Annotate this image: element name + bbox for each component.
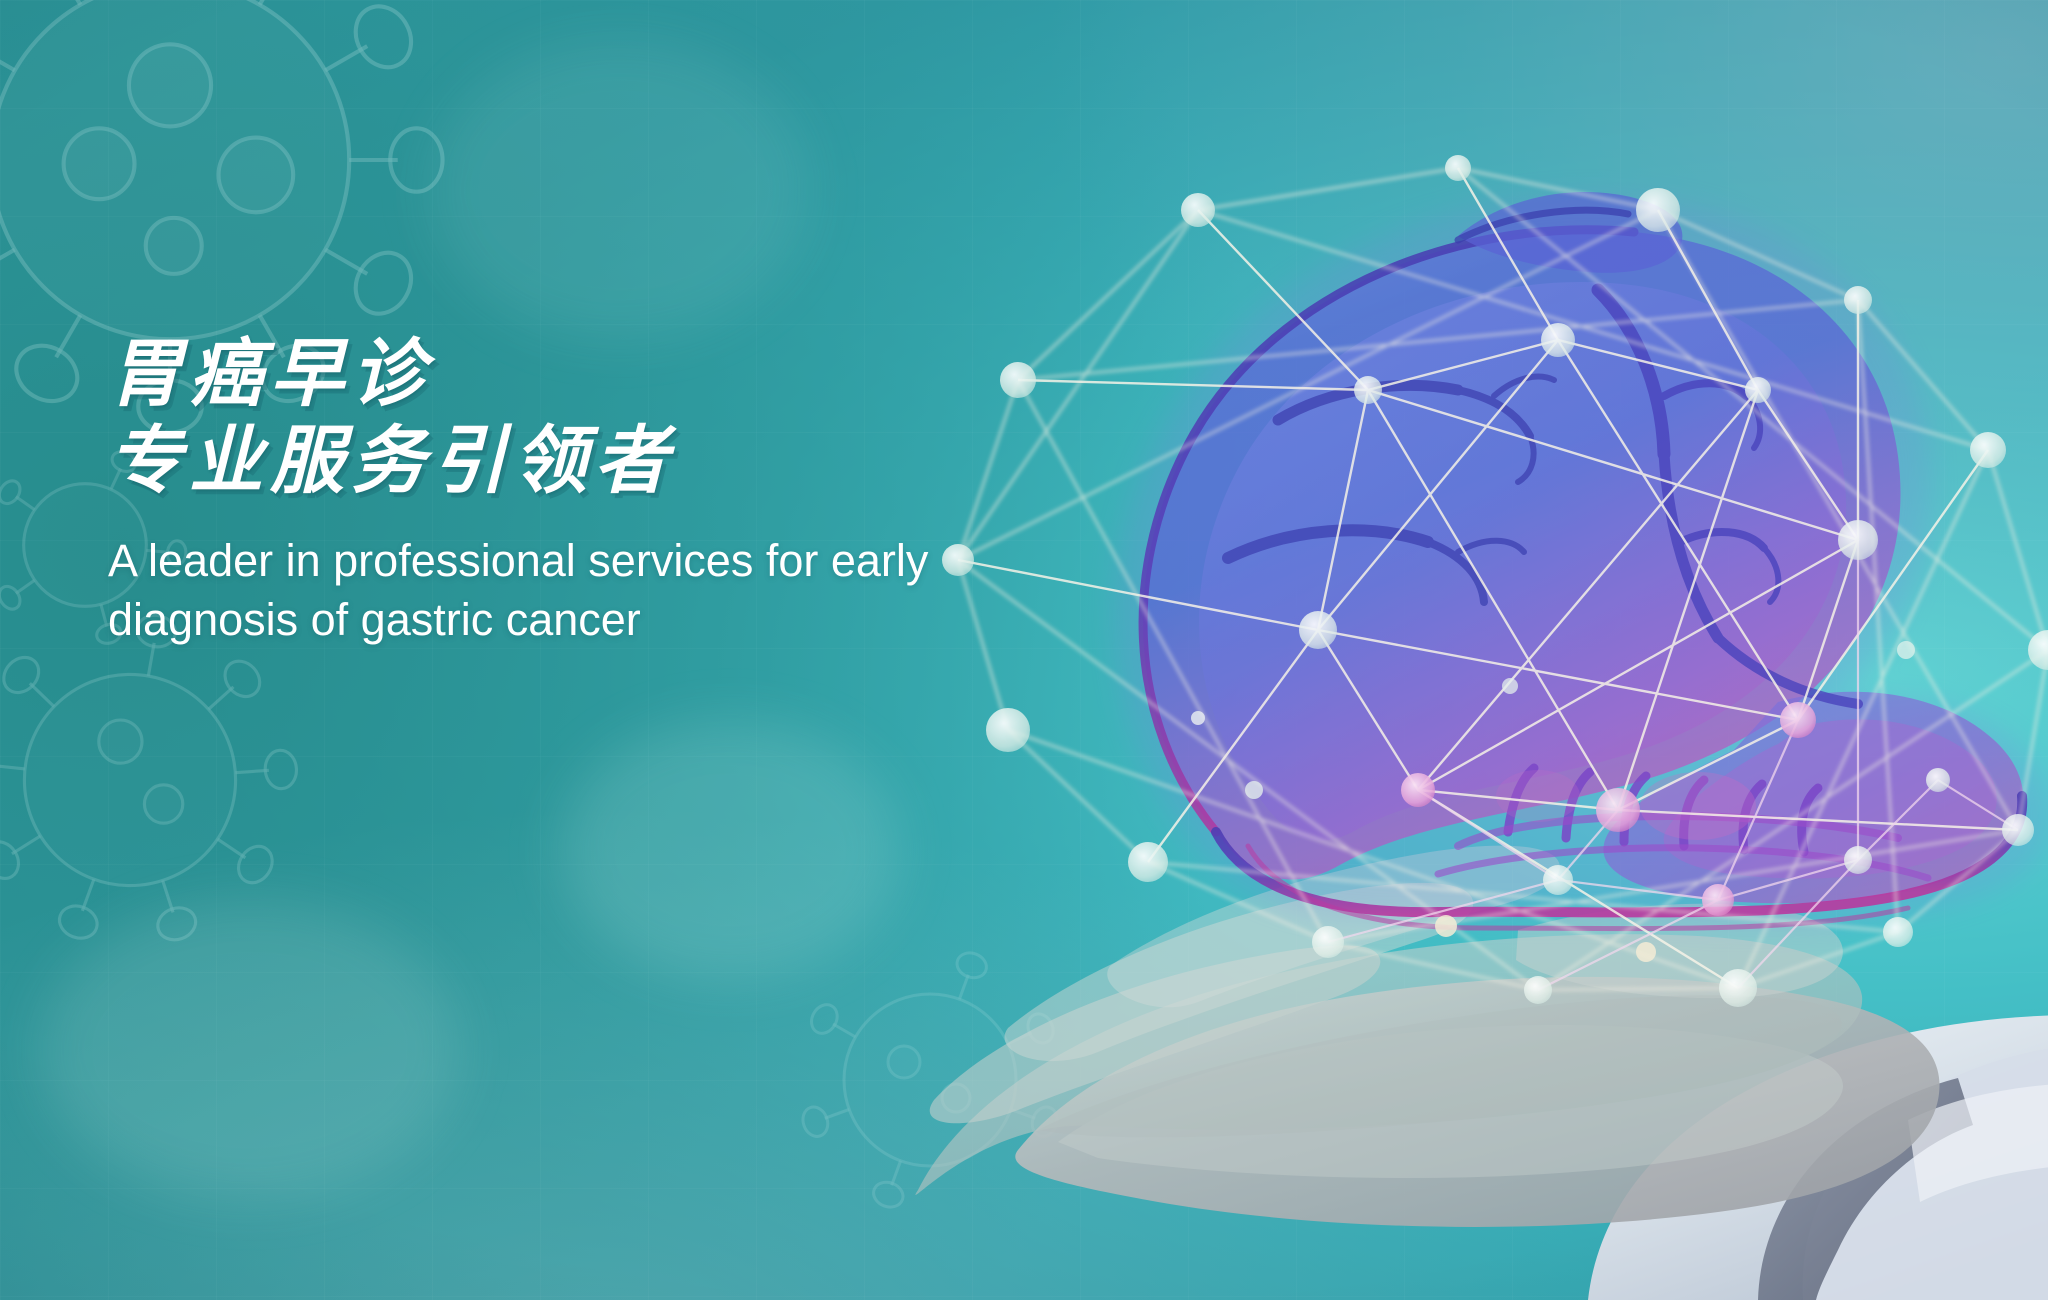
subtitle-line-2: diagnosis of gastric cancer — [108, 594, 641, 645]
subtitle: A leader in professional services for ea… — [108, 531, 938, 650]
hero-copy: 胃癌早诊 专业服务引领者 A leader in professional se… — [108, 330, 1108, 649]
page-title: 胃癌早诊 专业服务引领者 — [108, 330, 1108, 505]
stomach-hologram-artwork — [898, 90, 2048, 1300]
headline-line-2: 专业服务引领者 — [108, 417, 1108, 504]
subtitle-line-1: A leader in professional services for ea… — [108, 535, 928, 586]
hero-banner: 胃癌早诊 专业服务引领者 A leader in professional se… — [0, 0, 2048, 1300]
headline-line-1: 胃癌早诊 — [108, 332, 432, 415]
